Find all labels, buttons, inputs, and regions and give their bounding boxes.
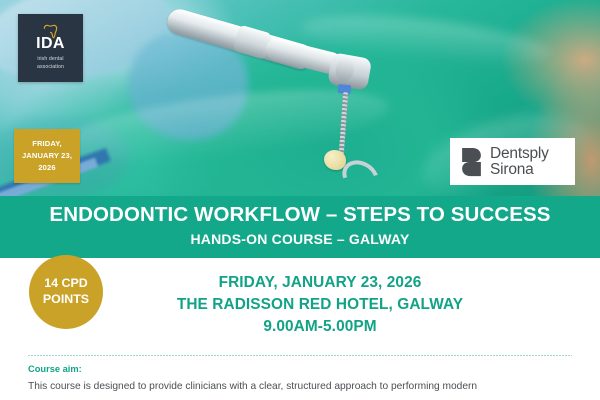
event-date: FRIDAY, JANUARY 23, 2026 xyxy=(120,272,520,294)
date-badge-line1: FRIDAY, xyxy=(32,139,62,148)
event-time: 9.00AM-5.00PM xyxy=(120,316,520,338)
course-aim-body: This course is designed to provide clini… xyxy=(28,380,588,395)
ida-subtitle-line2: association xyxy=(37,64,64,72)
course-aim-label: Course aim: xyxy=(28,364,82,374)
cpd-points-text: 14 CPD POINTS xyxy=(43,276,89,308)
date-badge-line2: JANUARY 23, xyxy=(22,151,72,160)
date-badge-text: FRIDAY, JANUARY 23, 2026 xyxy=(22,138,72,173)
dentsply-line1: Dentsply xyxy=(490,146,549,162)
dentsply-s-mark-icon xyxy=(460,147,483,177)
course-subtitle: HANDS-ON COURSE – GALWAY xyxy=(0,231,600,247)
cpd-points-line2: POINTS xyxy=(43,292,89,306)
dentsply-sirona-wordmark: Dentsply Sirona xyxy=(490,146,549,178)
date-badge-line3: 2026 xyxy=(38,163,55,172)
ida-subtitle: irish dental association xyxy=(37,56,64,71)
dentsply-sirona-logo: Dentsply Sirona xyxy=(450,138,575,185)
course-title: ENDODONTIC WORKFLOW – STEPS TO SUCCESS xyxy=(0,203,600,227)
event-venue: THE RADISSON RED HOTEL, GALWAY xyxy=(120,294,520,316)
cpd-points-line1: 14 CPD xyxy=(44,276,87,290)
event-details: FRIDAY, JANUARY 23, 2026 THE RADISSON RE… xyxy=(120,272,520,338)
ida-wordmark: IDA xyxy=(36,36,65,52)
cpd-points-badge: 14 CPD POINTS xyxy=(29,255,103,329)
section-divider xyxy=(28,355,572,356)
ida-logo: IDA irish dental association xyxy=(18,14,83,82)
course-flyer: IDA irish dental association FRIDAY, JAN… xyxy=(0,0,600,400)
title-band: ENDODONTIC WORKFLOW – STEPS TO SUCCESS H… xyxy=(0,196,600,258)
date-badge: FRIDAY, JANUARY 23, 2026 xyxy=(14,129,80,183)
dentsply-line2: Sirona xyxy=(490,162,549,178)
ida-subtitle-line1: irish dental xyxy=(37,56,64,64)
